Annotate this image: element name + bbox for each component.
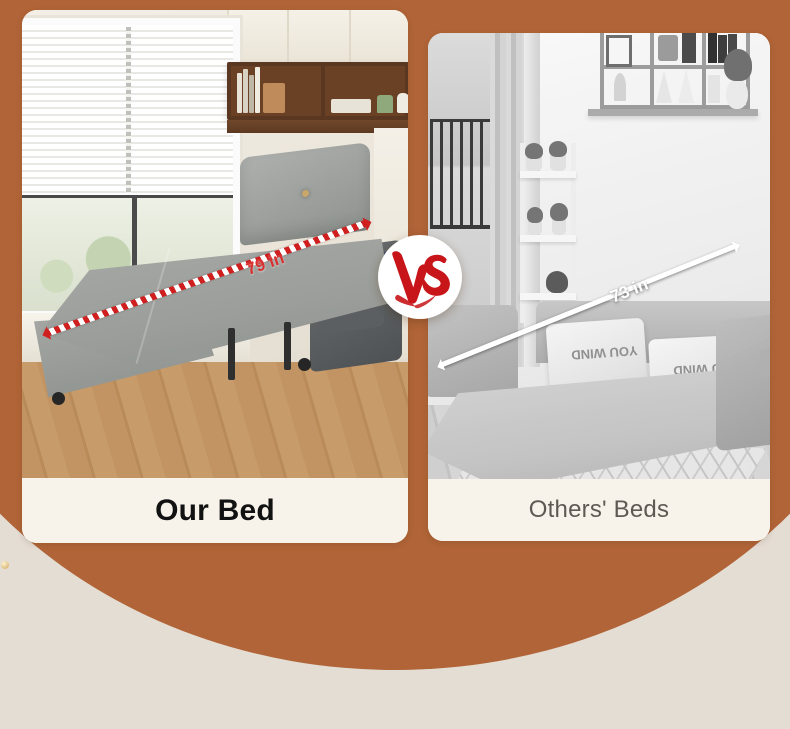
sofa-arm-right <box>716 313 770 452</box>
bed-leg <box>228 328 235 380</box>
pillow-text: YOU WIND <box>555 344 638 363</box>
bed-caster <box>52 392 65 405</box>
others-bed-photo: YOU WIND YOU WIND 73 in <box>428 33 770 479</box>
vase <box>726 79 748 109</box>
caption-our-bed: Our Bed <box>22 478 408 543</box>
overhead-cabinet <box>227 10 408 62</box>
gold-dot-accent <box>1 561 9 569</box>
caption-label: Others' Beds <box>529 496 669 524</box>
comparison-banner: 79 in Our Bed <box>0 0 790 729</box>
wall-picture-frame <box>606 35 632 67</box>
our-bed-photo: 79 in <box>22 10 408 478</box>
plant <box>724 49 752 81</box>
vs-badge <box>378 235 462 319</box>
blind-cord <box>126 27 131 193</box>
bed-caster <box>298 358 311 371</box>
bed-leg <box>284 322 291 370</box>
caption-label: Our Bed <box>155 494 275 528</box>
wall-shelf-unit <box>227 62 408 120</box>
card-others-beds[interactable]: YOU WIND YOU WIND 73 in Others' Beds <box>428 33 770 541</box>
balcony-railing <box>430 119 490 229</box>
card-our-bed[interactable]: 79 in Our Bed <box>22 10 408 543</box>
vs-brush-icon <box>383 240 457 314</box>
ladder-shelf <box>520 143 576 323</box>
caption-others-beds: Others' Beds <box>428 479 770 541</box>
wall-shelf-board <box>588 109 758 116</box>
